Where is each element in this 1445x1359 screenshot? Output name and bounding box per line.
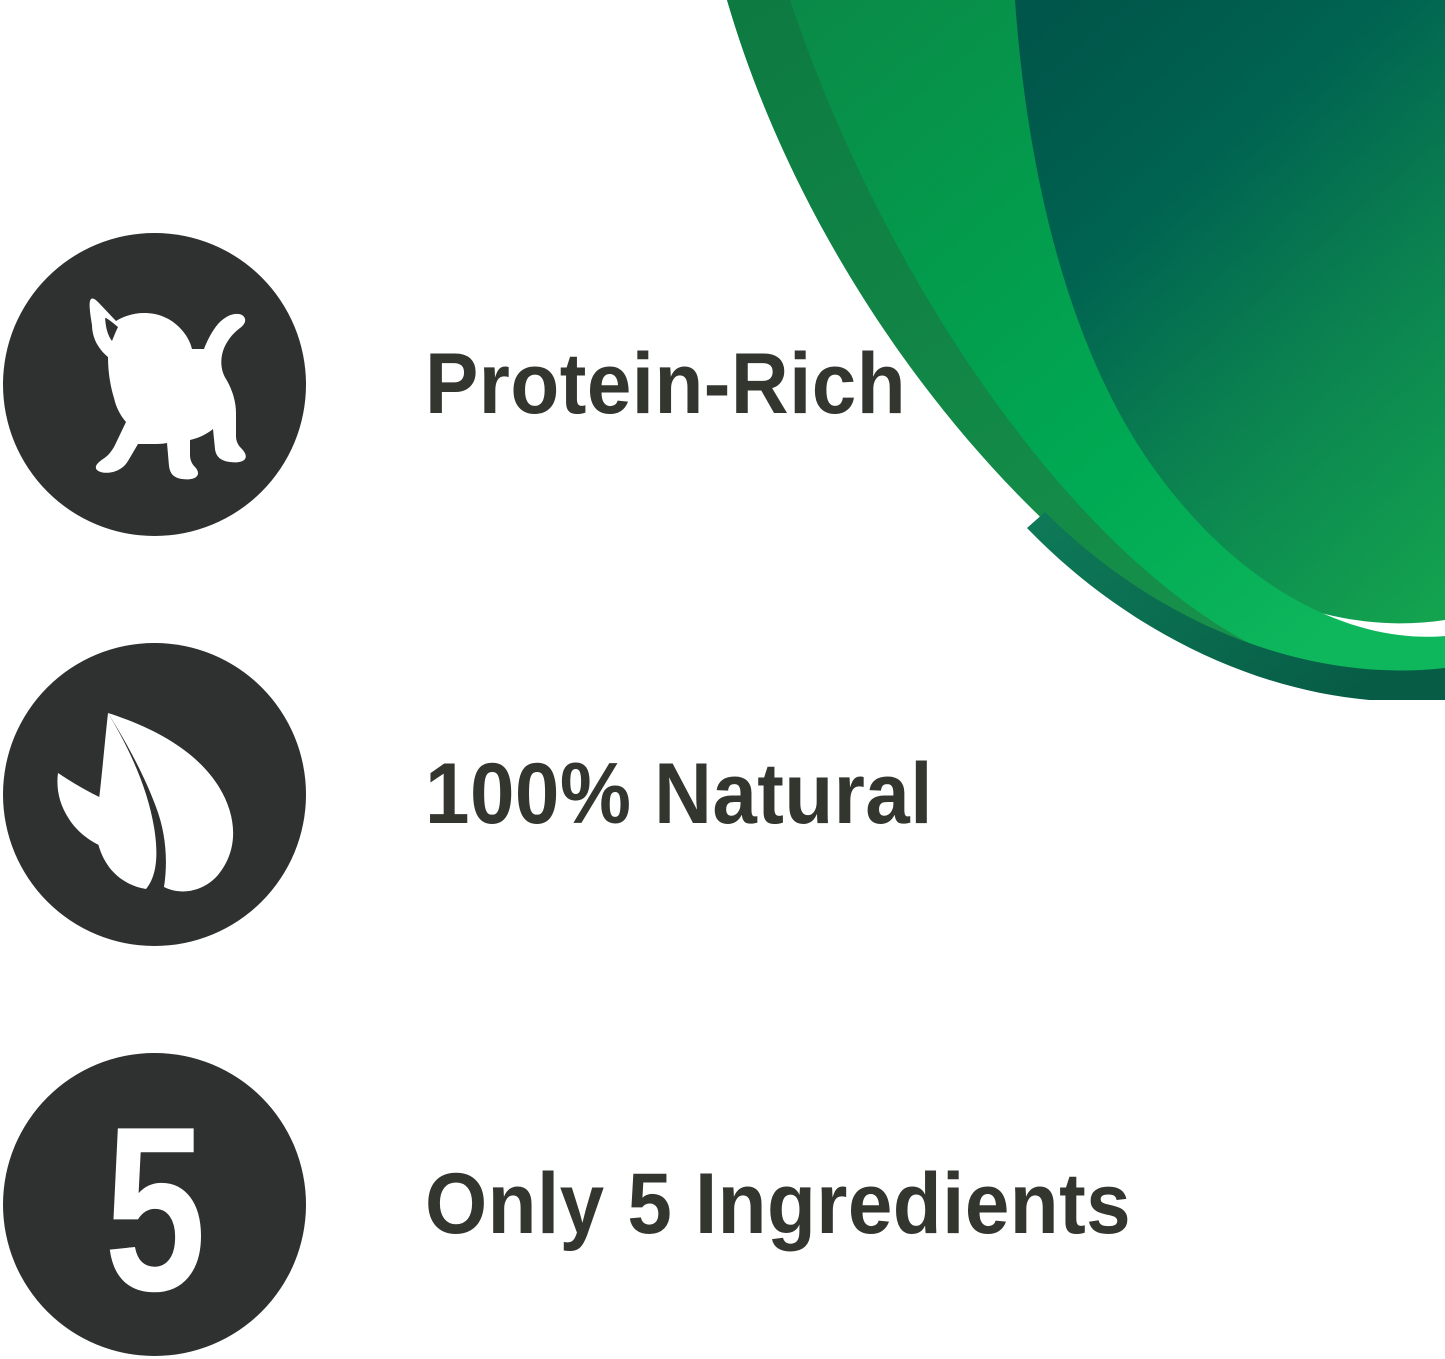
number-five-icon: 5 [104, 1091, 204, 1326]
leaf-icon [46, 691, 264, 897]
feature-row-protein-rich: Protein-Rich [0, 229, 1445, 539]
badge-protein-rich [3, 233, 306, 536]
badge-natural [3, 643, 306, 946]
cat-icon [40, 279, 270, 489]
badge-ingredients: 5 [3, 1053, 306, 1356]
feature-label-ingredients: Only 5 Ingredients [425, 1159, 1131, 1249]
feature-row-ingredients: 5 Only 5 Ingredients [0, 1049, 1445, 1359]
feature-label-protein-rich: Protein-Rich [425, 339, 906, 429]
feature-label-natural: 100% Natural [425, 749, 933, 839]
infographic-root: Protein-Rich 100% Natural 5 Only 5 Ingre… [0, 0, 1445, 1359]
feature-row-natural: 100% Natural [0, 639, 1445, 949]
